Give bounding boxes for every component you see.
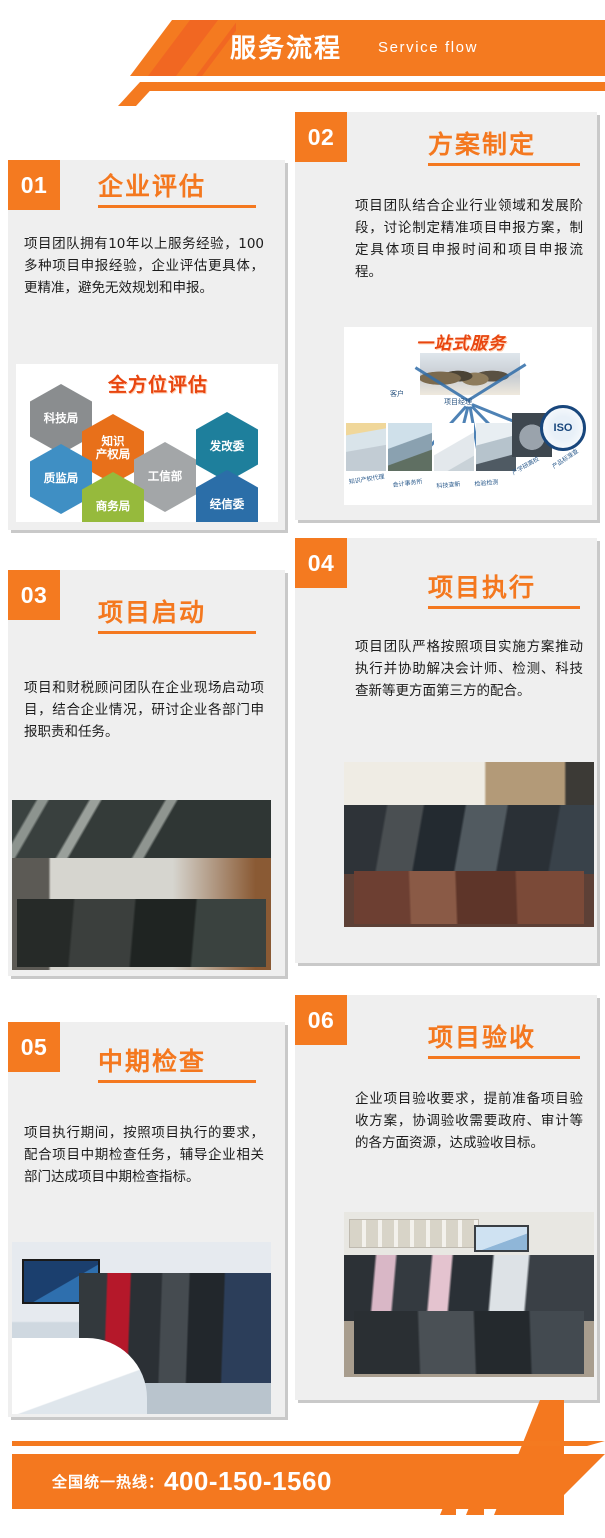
iso-seal-icon: ISO bbox=[540, 405, 586, 451]
step-number-04: 04 bbox=[295, 538, 347, 588]
service-flow-infographic: 服务流程 Service flow 01 企业评估 项目团队拥有10年以上服务经… bbox=[0, 0, 605, 1538]
step-title-05: 中期检查 bbox=[98, 1042, 206, 1078]
step-body-02: 项目团队结合企业行业领域和发展阶段，讨论制定精准项目申报方案，制定具体项目申报时… bbox=[355, 195, 583, 283]
step-title-03: 项目启动 bbox=[98, 593, 206, 629]
hex-node-jingxinwei: 经信委 bbox=[196, 470, 258, 522]
hotline-text: 全国统一热线：400-150-1560 bbox=[52, 1466, 332, 1497]
title-rule-03 bbox=[98, 631, 256, 634]
step-title-06: 项目验收 bbox=[428, 1018, 536, 1054]
hex-label: 商务局 bbox=[96, 501, 131, 514]
step-number-02: 02 bbox=[295, 112, 347, 162]
step-body-04: 项目团队严格按照项目实施方案推动执行并协助解决会计师、检测、科技查新等更方面第三… bbox=[355, 636, 583, 702]
branch-label-4: 检验检测 bbox=[474, 477, 499, 488]
branch-photo-4 bbox=[476, 423, 516, 471]
table-chairs-area bbox=[17, 899, 266, 967]
table-surface bbox=[354, 871, 584, 924]
footer-top-line bbox=[12, 1441, 605, 1446]
branch-label-1: 知识产权代理 bbox=[348, 471, 385, 486]
step-number-01: 01 bbox=[8, 160, 60, 210]
certificate-wall bbox=[349, 1219, 479, 1249]
header-underline-bar bbox=[136, 82, 605, 91]
page-subtitle: Service flow bbox=[378, 38, 478, 58]
client-label: 客户 bbox=[390, 389, 404, 399]
acceptance-meeting-photo-06 bbox=[344, 1212, 594, 1377]
step-number-06: 06 bbox=[295, 995, 347, 1045]
seal-label: ISO bbox=[554, 422, 573, 434]
hotline-label: 全国统一热线： bbox=[52, 1474, 164, 1491]
branch-label-3: 科技查新 bbox=[436, 479, 461, 490]
title-rule-06 bbox=[428, 1056, 580, 1059]
step-body-03: 项目和财税顾问团队在企业现场启动项目，结合企业情况，研讨企业各部门申报职责和任务… bbox=[24, 677, 264, 743]
hex-label: 知识 产权局 bbox=[96, 436, 131, 462]
hex-label: 发改委 bbox=[210, 441, 245, 454]
title-rule-01 bbox=[98, 205, 256, 208]
page-title: 服务流程 bbox=[230, 29, 342, 67]
branch-label-2: 会计事务所 bbox=[392, 476, 423, 489]
step-title-01: 企业评估 bbox=[98, 167, 206, 203]
title-rule-04 bbox=[428, 606, 580, 609]
project-manager-label: 项目经理 bbox=[444, 397, 472, 407]
header-tail-slash-icon bbox=[118, 82, 158, 106]
hex-label: 工信部 bbox=[148, 471, 183, 484]
hexagon-assessment-chart: 全方位评估 科技局 知识 产权局 质监局 工信部 商务局 发改委 经信委 bbox=[16, 364, 278, 522]
hotline-number[interactable]: 400-150-1560 bbox=[164, 1466, 332, 1496]
one-stop-title: 一站式服务 bbox=[416, 329, 506, 354]
hex-label: 质监局 bbox=[44, 473, 79, 486]
step-title-04: 项目执行 bbox=[428, 568, 536, 604]
step-number-05: 05 bbox=[8, 1022, 60, 1072]
hex-label: 经信委 bbox=[210, 499, 245, 512]
step-number-03: 03 bbox=[8, 570, 60, 620]
page-header: 服务流程 Service flow bbox=[0, 0, 605, 105]
step-body-05: 项目执行期间，按照项目执行的要求，配合项目中期检查任务，辅导企业相关部门达成项目… bbox=[24, 1122, 264, 1188]
branch-photo-1 bbox=[346, 423, 386, 471]
step-body-06: 企业项目验收要求，提前准备项目验收方案，协调验收需要政府、审计等的各方面资源，达… bbox=[355, 1088, 583, 1154]
hexagon-chart-title: 全方位评估 bbox=[108, 370, 208, 397]
step-body-01: 项目团队拥有10年以上服务经验，100多种项目申报经验，企业评估更具体，更精准，… bbox=[24, 233, 264, 299]
people-row bbox=[344, 805, 594, 874]
meeting-table-photo-04 bbox=[344, 762, 594, 927]
branch-photo-3 bbox=[434, 423, 474, 471]
projection-screen bbox=[474, 1225, 529, 1251]
one-stop-service-diagram: 一站式服务 客户 项目经理 ISO 知识产权代理 会计事务所 科技查新 检验检测… bbox=[344, 327, 592, 505]
step-title-02: 方案制定 bbox=[428, 125, 536, 161]
title-rule-02 bbox=[428, 163, 580, 166]
conference-room-photo-03 bbox=[12, 800, 271, 970]
hex-label: 科技局 bbox=[44, 413, 79, 426]
ceiling-area bbox=[12, 800, 271, 858]
showroom-visit-photo-05 bbox=[12, 1242, 271, 1414]
title-rule-05 bbox=[98, 1080, 256, 1083]
branch-photo-2 bbox=[388, 423, 432, 471]
table-chairs-row bbox=[354, 1311, 584, 1374]
